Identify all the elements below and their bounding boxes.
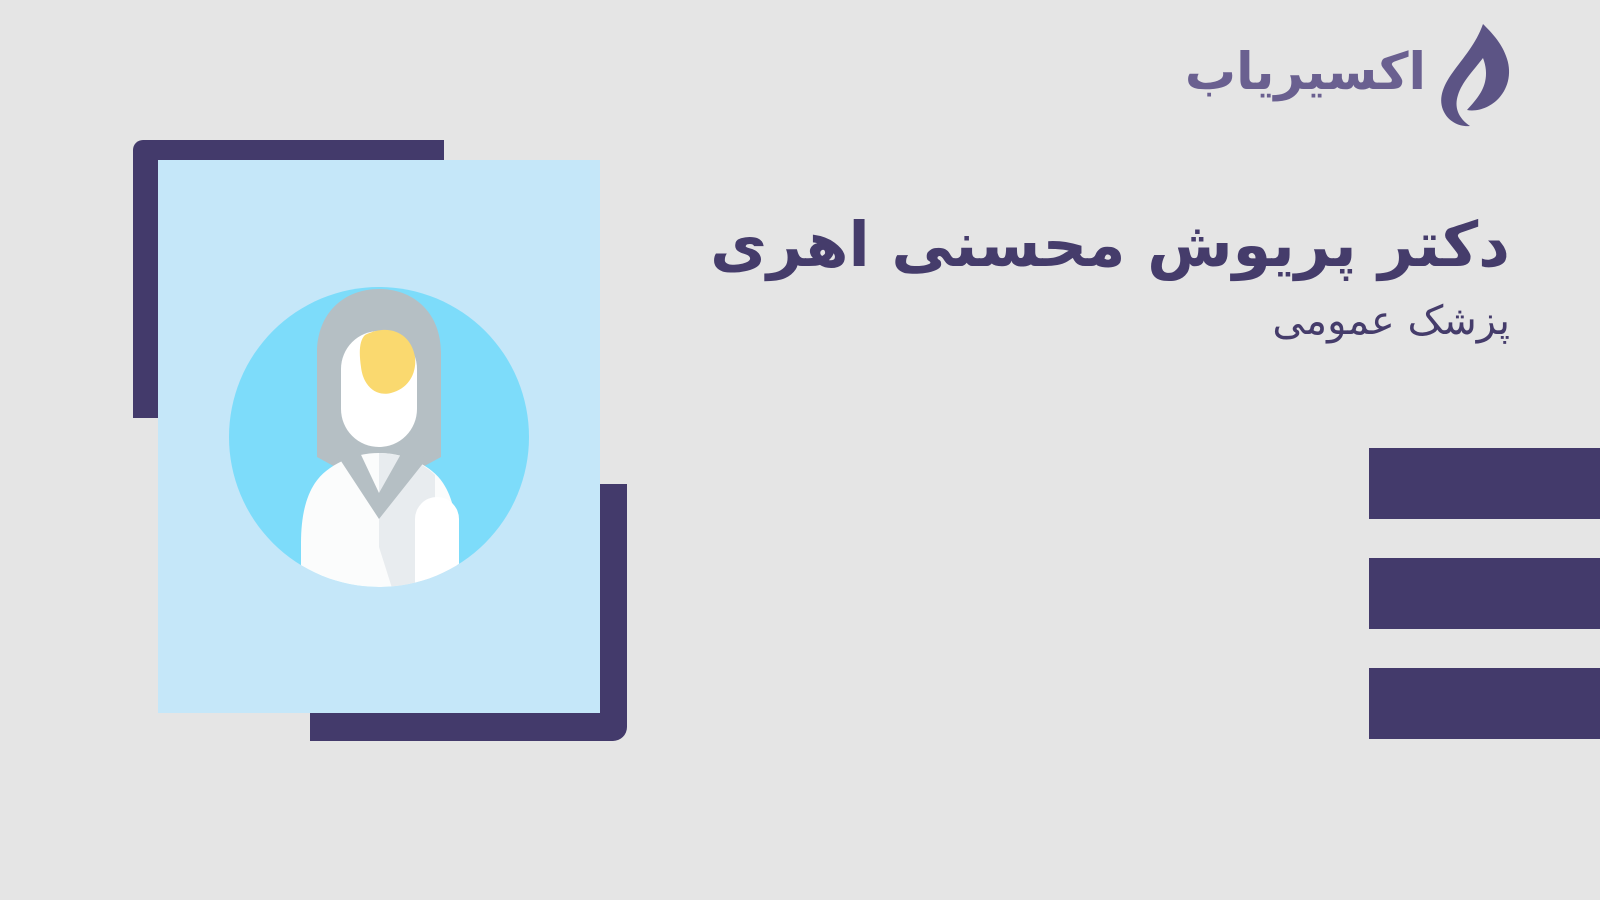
decorative-bar-stack	[1369, 448, 1600, 740]
female-doctor-avatar-icon	[229, 257, 529, 617]
decorative-bar-1	[1369, 448, 1600, 519]
flame-droplet-icon	[1436, 22, 1512, 128]
decorative-bar-2	[1369, 558, 1600, 629]
profile-banner: اکسیریاب دکتر پریوش محسنی اهری پزشک عموم…	[0, 0, 1600, 900]
decorative-bar-3	[1369, 668, 1600, 739]
brand-name: اکسیریاب	[1185, 47, 1426, 104]
profile-heading-group: دکتر پریوش محسنی اهری پزشک عمومی	[650, 208, 1510, 347]
doctor-specialty: پزشک عمومی	[650, 295, 1510, 347]
photo-card	[158, 160, 600, 713]
doctor-name: دکتر پریوش محسنی اهری	[650, 208, 1510, 281]
brand-logo[interactable]: اکسیریاب	[1185, 22, 1512, 128]
doctor-illustration	[133, 140, 627, 741]
